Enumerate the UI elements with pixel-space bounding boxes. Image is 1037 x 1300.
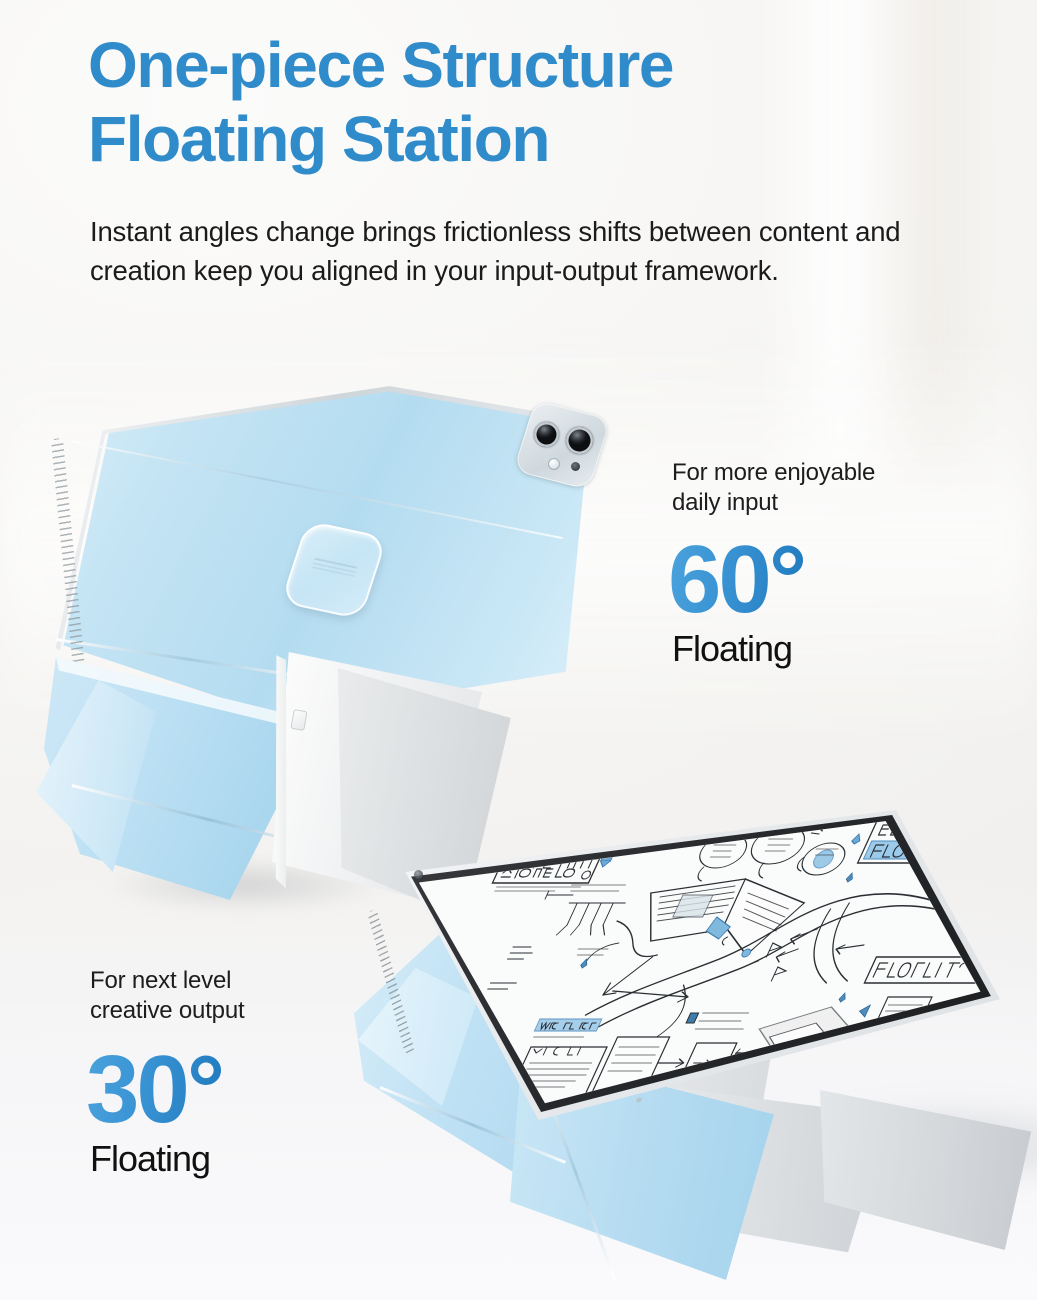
subtitle: Instant angles change brings frictionles… bbox=[90, 212, 920, 290]
callout-60-mode-label: Floating bbox=[672, 628, 875, 670]
callout-60-lead-line-2: daily input bbox=[672, 489, 778, 516]
callout-30-degree: For next level creative output 30° Float… bbox=[90, 966, 244, 1180]
callout-60-degree: For more enjoyable daily input 60° Float… bbox=[672, 458, 875, 670]
lidar-sensor-icon bbox=[571, 462, 580, 471]
headline-line-2: Floating Station bbox=[88, 102, 938, 176]
tablet-front-view-30deg bbox=[340, 800, 1037, 1300]
callout-30-lead-line-1: For next level bbox=[90, 967, 231, 994]
callout-60-lead-line-1: For more enjoyable bbox=[672, 459, 875, 486]
callout-30-angle-value: 30° bbox=[86, 1038, 222, 1142]
marketing-banner: One-piece Structure Floating Station Ins… bbox=[0, 0, 1037, 1300]
camera-flash-icon bbox=[548, 458, 560, 470]
callout-60-angle-value: 60° bbox=[668, 528, 804, 632]
callout-30-mode-label: Floating bbox=[90, 1138, 244, 1180]
callout-60-lead: For more enjoyable daily input bbox=[672, 458, 875, 518]
page-title: One-piece Structure Floating Station bbox=[88, 28, 938, 176]
callout-30-lead: For next level creative output bbox=[90, 966, 244, 1026]
front-camera-icon bbox=[414, 870, 423, 879]
headline-line-1: One-piece Structure bbox=[88, 29, 673, 101]
callout-30-lead-line-2: creative output bbox=[90, 997, 244, 1024]
